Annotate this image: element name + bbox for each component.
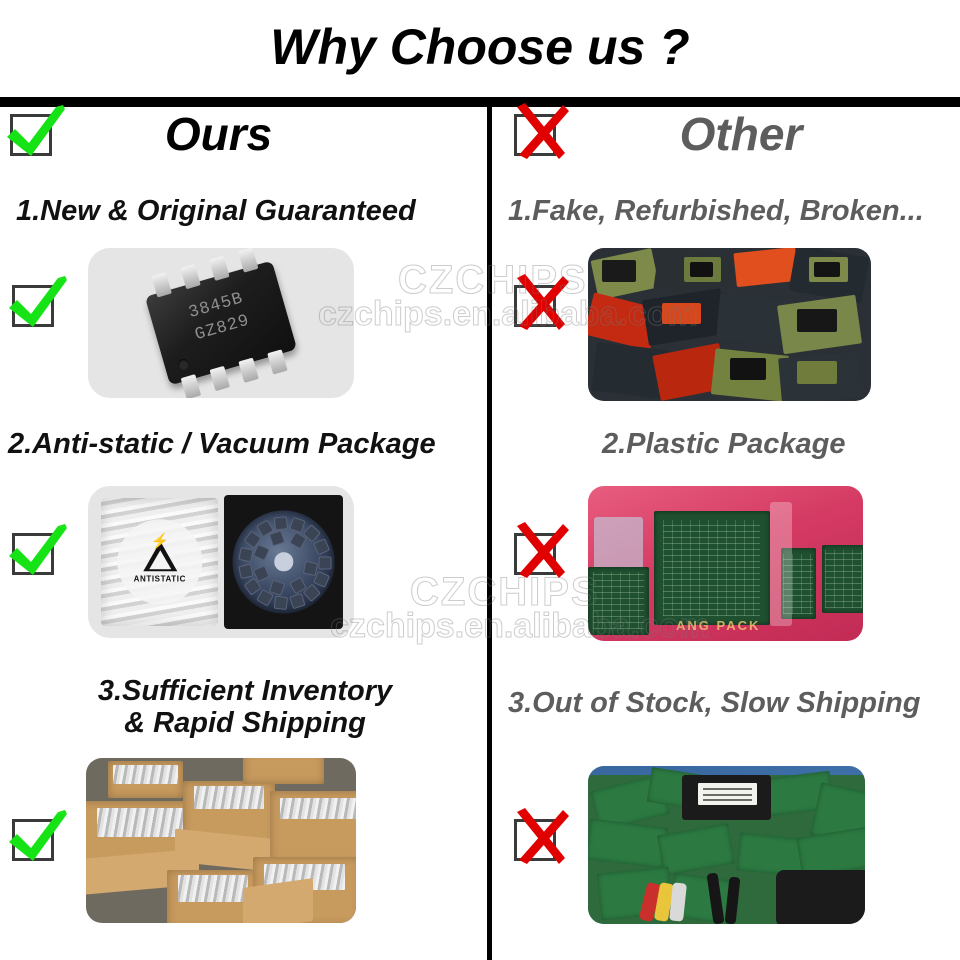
esd-warning-triangle-icon: ⚡	[143, 541, 177, 571]
cross-icon	[503, 268, 577, 342]
checkbox-row-3-ours	[12, 819, 54, 861]
cross-icon	[503, 97, 577, 171]
check-icon	[1, 268, 75, 342]
scrap-green-boards-illustration	[588, 766, 865, 924]
column-heading-ours: Ours	[0, 111, 487, 157]
checkbox-row-2-ours	[12, 533, 54, 575]
feature-title-3-other: 3.Out of Stock, Slow Shipping	[508, 687, 958, 719]
black-module	[682, 775, 771, 819]
check-icon	[1, 516, 75, 590]
pack-text: ANG PACK	[676, 618, 760, 633]
antistatic-bag: ⚡ ANTISTATIC	[101, 498, 218, 626]
photo-panel-antistatic: ⚡ ANTISTATIC	[88, 486, 354, 638]
feature-title-2-ours: 2.Anti-static / Vacuum Package	[8, 428, 478, 460]
chip-pin1-dot	[177, 358, 191, 372]
antistatic-label: ⚡ ANTISTATIC	[117, 519, 202, 604]
feature-title-1-ours: 1.New & Original Guaranteed	[16, 195, 476, 227]
column-other: Other 1.Fake, Refurbished, Broken...	[492, 103, 960, 960]
checkbox-row-1-other	[514, 285, 556, 327]
packed-cartons-illustration	[86, 758, 356, 923]
photo-panel-scrap-chips	[588, 248, 871, 401]
scrap-chips-illustration	[588, 248, 871, 401]
checkbox-row-1-ours	[12, 285, 54, 327]
checkbox-row-3-other	[514, 819, 556, 861]
checkbox-row-2-other	[514, 533, 556, 575]
cross-icon	[503, 802, 577, 876]
feature-title-2-other: 2.Plastic Package	[602, 428, 932, 460]
photo-panel-plastic-package: ANG PACK	[588, 486, 863, 641]
why-choose-us-infographic: Why Choose us ? Ours 1.New & Original Gu…	[0, 0, 960, 960]
feature-title-1-other: 1.Fake, Refurbished, Broken...	[508, 195, 958, 227]
soic-chip-illustration: 3845B GZ829	[145, 261, 297, 386]
photo-panel-chip: 3845B GZ829	[88, 248, 354, 398]
lightning-bolt-icon: ⚡	[150, 533, 169, 548]
feature-title-3-ours: 3.Sufficient Inventory & Rapid Shipping	[20, 675, 470, 740]
column-ours: Ours 1.New & Original Guaranteed	[0, 103, 487, 960]
tape-reel-tray	[224, 495, 344, 629]
plastic-wrapped-boards-illustration: ANG PACK	[588, 486, 863, 641]
photo-panel-cartons	[86, 758, 356, 923]
check-icon	[1, 802, 75, 876]
module-label	[698, 783, 756, 804]
check-icon	[0, 97, 73, 171]
cross-icon	[503, 516, 577, 590]
page-title: Why Choose us ?	[0, 22, 960, 72]
checkbox-ours-header	[10, 114, 52, 156]
photo-panel-scrap-boards	[588, 766, 865, 924]
checkbox-other-header	[514, 114, 556, 156]
